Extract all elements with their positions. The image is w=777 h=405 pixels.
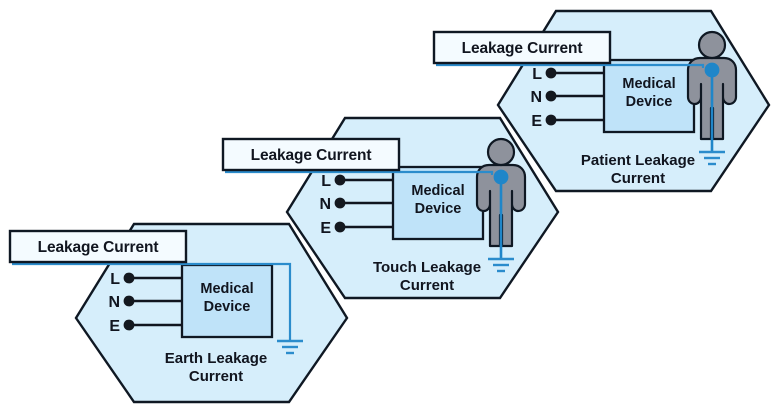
contact-point-dot-patient [705, 63, 720, 78]
person-head-patient [699, 32, 725, 58]
medical-device-label-line1-earth: Medical [200, 281, 253, 297]
medical-device-label-line2-touch: Device [415, 201, 462, 217]
leakage-current-diagram: Medical Device L N E [0, 0, 777, 405]
terminal-label-l-touch: L [321, 173, 331, 190]
panel-caption-line1-touch: Touch Leakage [373, 259, 481, 276]
terminal-label-n-touch: N [319, 196, 331, 213]
leakage-current-label-text-patient: Leakage Current [462, 40, 583, 57]
terminal-label-l-patient: L [532, 66, 542, 83]
medical-device-label-line1-patient: Medical [622, 76, 675, 92]
terminal-dot-n-patient [546, 91, 557, 102]
panel-caption-line2-patient: Current [611, 170, 665, 187]
diagram-canvas: Medical Device L N E [0, 0, 777, 405]
terminal-dot-e-patient [546, 115, 557, 126]
terminal-dot-e-touch [335, 222, 346, 233]
panel-caption-line1-patient: Patient Leakage [581, 152, 695, 169]
terminal-label-e-patient: E [531, 113, 542, 130]
terminal-dot-n-touch [335, 198, 346, 209]
terminal-label-e-touch: E [320, 220, 331, 237]
panel-earth-leakage: Medical Device L N E Leakage Current Ear… [10, 224, 347, 402]
terminal-label-e-earth: E [109, 318, 120, 335]
medical-device-label-line2-patient: Device [626, 94, 673, 110]
terminal-label-n-earth: N [108, 294, 120, 311]
leakage-current-label-text-touch: Leakage Current [251, 147, 372, 164]
medical-device-label-line2-earth: Device [204, 299, 251, 315]
terminal-dot-l-earth [124, 273, 135, 284]
terminal-dot-n-earth [124, 296, 135, 307]
medical-device-label-line1-touch: Medical [411, 183, 464, 199]
panel-caption-line2-earth: Current [189, 368, 243, 385]
terminal-dot-l-touch [335, 175, 346, 186]
contact-point-dot-touch [494, 170, 509, 185]
terminal-label-n-patient: N [530, 89, 542, 106]
terminal-dot-e-earth [124, 320, 135, 331]
terminal-label-l-earth: L [110, 271, 120, 288]
person-head-touch [488, 139, 514, 165]
terminal-dot-l-patient [546, 68, 557, 79]
panel-caption-line2-touch: Current [400, 277, 454, 294]
leakage-current-label-text-earth: Leakage Current [38, 239, 159, 256]
panel-caption-line1-earth: Earth Leakage [165, 350, 268, 367]
